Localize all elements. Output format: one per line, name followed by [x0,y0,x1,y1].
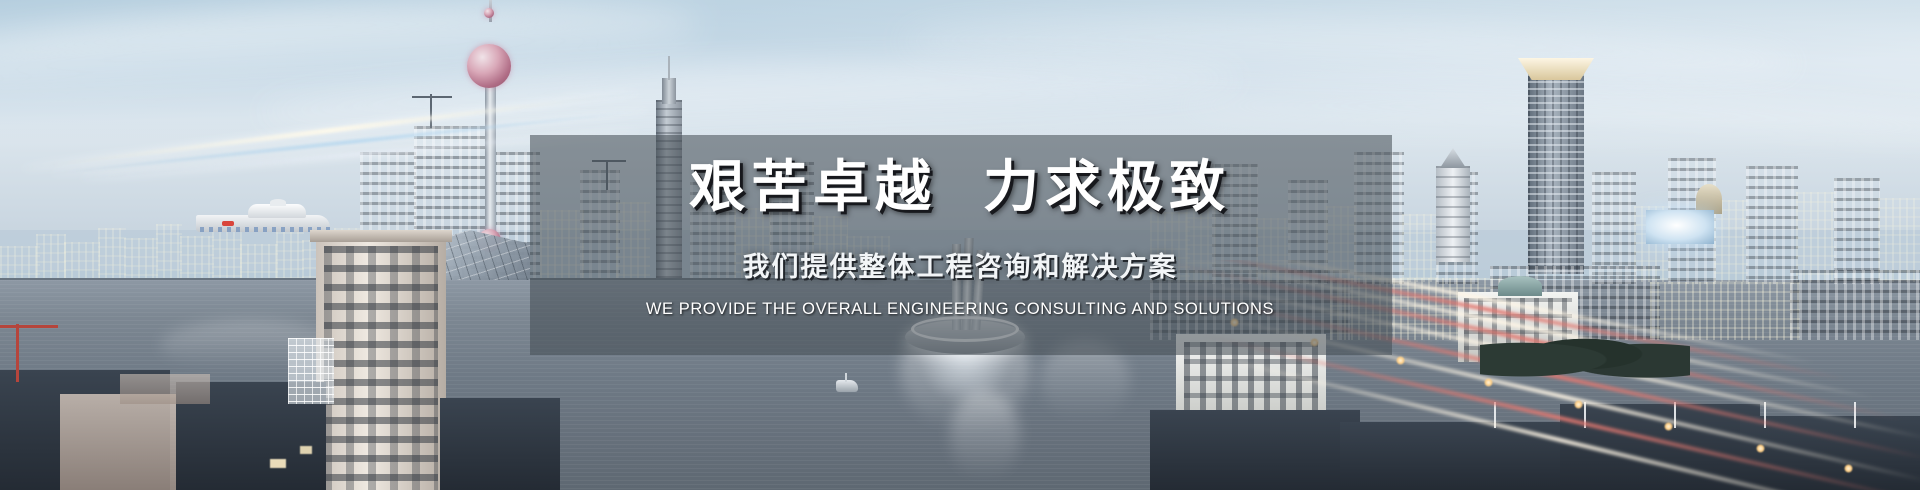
text-overlay-panel [530,135,1392,355]
crane-jib [0,325,58,328]
scaffold-structure [288,338,334,404]
foreground-tower-roof [310,230,452,242]
foreground-apartment-tower [316,240,446,490]
hero-banner: 艰苦卓越力求极致 我们提供整体工程咨询和解决方案 WE PROVIDE THE … [0,0,1920,490]
construction-crane [16,324,19,382]
lit-window [270,459,286,468]
lit-window [300,446,312,454]
tree-cluster [1480,326,1690,382]
